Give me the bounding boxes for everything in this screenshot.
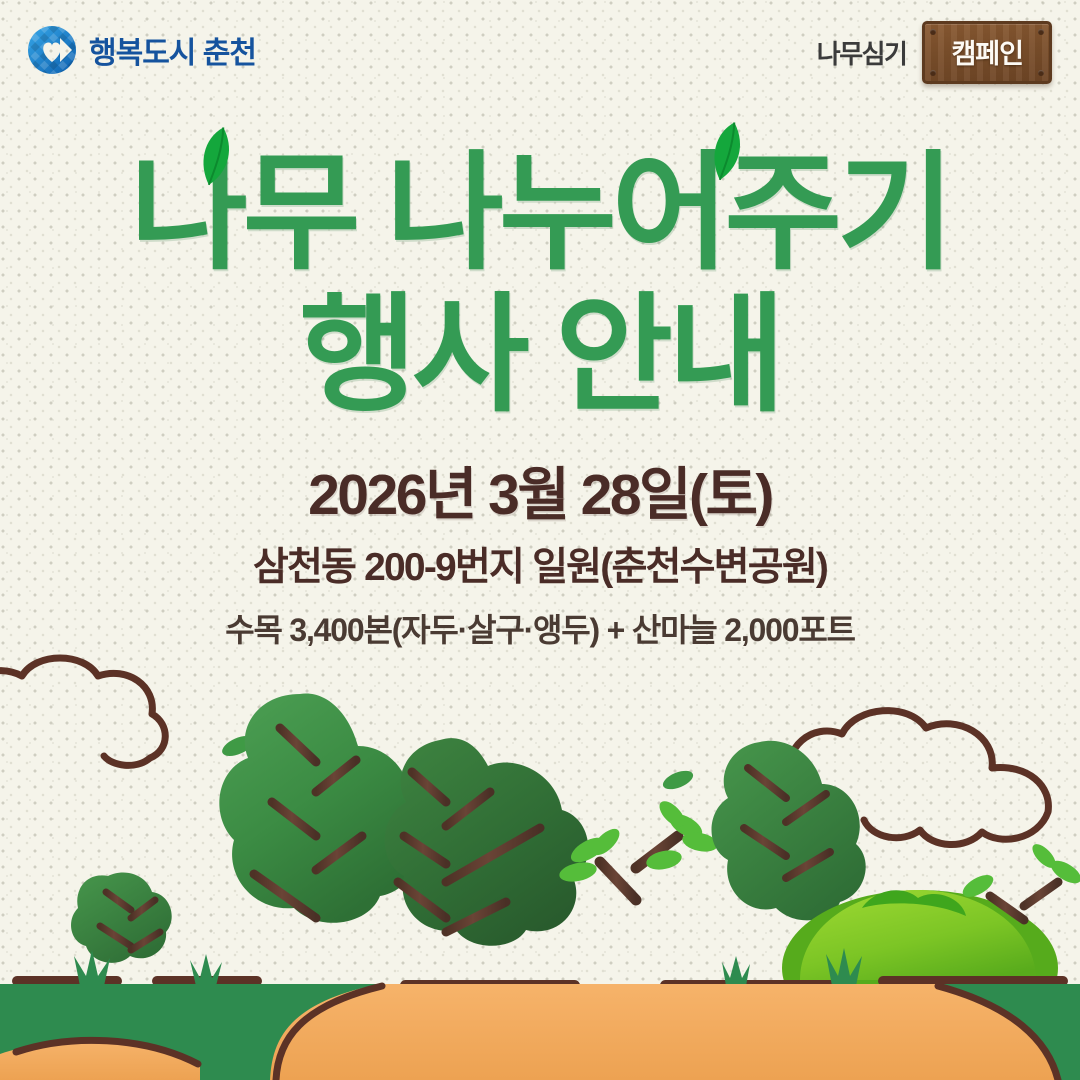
brand-name-text: 행복도시 춘천 bbox=[89, 28, 256, 72]
dirt-path bbox=[270, 984, 1060, 1080]
tree-icon bbox=[385, 738, 588, 984]
campaign-label-text: 나무심기 bbox=[817, 34, 907, 71]
campaign-badge-text: 캠페인 bbox=[951, 39, 1023, 69]
tree-icon bbox=[71, 873, 172, 984]
chuncheon-heart-circle-logo-icon bbox=[26, 24, 78, 76]
campaign-group: 나무심기 캠페인 bbox=[817, 21, 1052, 84]
screw-icon bbox=[930, 70, 936, 76]
info-block: 2026년 3월 28일(토) 삼천동 200-9번지 일원(춘천수변공원) 수… bbox=[0, 466, 1080, 651]
title-line-1: 나무 나누어주기 bbox=[0, 150, 1080, 278]
event-detail-text: 수목 3,400본(자두·살구·앵두) + 산마늘 2,000포트 bbox=[0, 605, 1080, 651]
campaign-wood-sign: 캠페인 bbox=[922, 21, 1052, 84]
screw-icon bbox=[1038, 70, 1044, 76]
brand-logo-group: 행복도시 춘천 bbox=[26, 24, 256, 76]
scene-illustration bbox=[0, 650, 1080, 1080]
poster-header: 행복도시 춘천 나무심기 캠페인 bbox=[0, 0, 1080, 100]
screw-icon bbox=[930, 29, 936, 35]
title-line-2: 행사 안내 bbox=[0, 292, 1080, 420]
screw-icon bbox=[1038, 29, 1044, 35]
event-date-text: 2026년 3월 28일(토) bbox=[0, 466, 1080, 526]
event-place-text: 삼천동 200-9번지 일원(춘천수변공원) bbox=[0, 536, 1080, 592]
title-block: 나무 나누어주기 행사 안내 bbox=[0, 150, 1080, 420]
cloud-icon bbox=[0, 658, 165, 765]
poster-canvas: 행복도시 춘천 나무심기 캠페인 나무 나누어주기 행사 안내 2026년 3월… bbox=[0, 0, 1080, 1080]
